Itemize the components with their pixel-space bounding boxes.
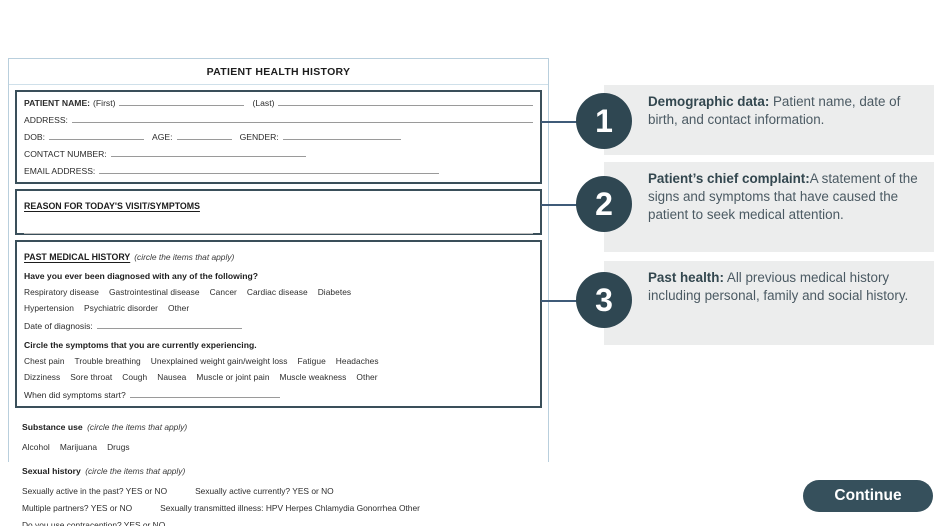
- substance-option[interactable]: Drugs: [107, 442, 130, 452]
- symptom-onset-label: When did symptoms start?: [24, 391, 126, 400]
- annotation-badge-3: 3: [576, 272, 632, 328]
- annotation-text-3: Past health: All previous medical histor…: [648, 269, 922, 305]
- dob-label: DOB:: [24, 133, 45, 142]
- condition-option[interactable]: Psychiatric disorder: [84, 303, 158, 313]
- substance-use-note: (circle the items that apply): [87, 422, 187, 432]
- symptom-option[interactable]: Headaches: [336, 356, 379, 366]
- annotation-term-2: Patient’s chief complaint:: [648, 171, 810, 186]
- email-input[interactable]: [99, 165, 439, 174]
- condition-option[interactable]: Gastrointestinal disease: [109, 287, 200, 297]
- last-name-input[interactable]: [278, 97, 533, 106]
- annotation-badge-2: 2: [576, 176, 632, 232]
- conditions-row-2: HypertensionPsychiatric disorderOther: [24, 303, 533, 313]
- patient-name-row: PATIENT NAME: (First) (Last): [24, 97, 533, 108]
- substance-options: AlcoholMarijuanaDrugs: [22, 442, 535, 452]
- contraception-row: Do you use contraception? YES or NO: [22, 520, 535, 526]
- past-medical-heading: PAST MEDICAL HISTORY: [24, 252, 130, 262]
- sexual-history-section: Sexual history (circle the items that ap…: [15, 461, 542, 526]
- symptom-option[interactable]: Muscle weakness: [280, 372, 347, 382]
- annotation-panel-1: Demographic data: Patient name, date of …: [604, 85, 934, 155]
- sexual-history-heading: Sexual history: [22, 466, 81, 476]
- patient-health-history-form: PATIENT HEALTH HISTORY PATIENT NAME: (Fi…: [8, 58, 549, 462]
- address-input[interactable]: [72, 114, 533, 123]
- reason-input[interactable]: [24, 233, 533, 234]
- annotation-panel-3: Past health: All previous medical histor…: [604, 261, 934, 345]
- annotation-badge-1: 1: [576, 93, 632, 149]
- contact-number-row: CONTACT NUMBER:: [24, 148, 533, 159]
- symptom-option[interactable]: Other: [356, 372, 377, 382]
- substance-use-heading: Substance use: [22, 422, 83, 432]
- contraception-question[interactable]: Do you use contraception? YES or NO: [22, 520, 165, 526]
- annotation-text-1: Demographic data: Patient name, date of …: [648, 93, 922, 129]
- symptom-option[interactable]: Nausea: [157, 372, 186, 382]
- gender-label: GENDER:: [240, 133, 279, 142]
- age-label: AGE:: [152, 133, 173, 142]
- sexual-activity-row: Sexually active in the past? YES or NOSe…: [22, 486, 535, 496]
- sexual-history-heading-row: Sexual history (circle the items that ap…: [22, 461, 535, 479]
- past-medical-history-section: PAST MEDICAL HISTORY(circle the items th…: [15, 240, 542, 408]
- annotation-text-2: Patient’s chief complaint:A statement of…: [648, 170, 922, 224]
- condition-option[interactable]: Cancer: [210, 287, 237, 297]
- date-of-diagnosis-row: Date of diagnosis:: [24, 320, 533, 331]
- symptoms-question: Circle the symptoms that you are current…: [24, 340, 533, 350]
- symptoms-row-2: DizzinessSore throatCoughNauseaMuscle or…: [24, 372, 533, 382]
- reason-for-visit-section: REASON FOR TODAY'S VISIT/SYMPTOMS: [15, 189, 542, 235]
- date-of-diagnosis-input[interactable]: [97, 320, 242, 329]
- continue-button[interactable]: Continue: [803, 480, 933, 512]
- sexually-active-current-question[interactable]: Sexually active currently? YES or NO: [195, 486, 334, 496]
- symptom-option[interactable]: Dizziness: [24, 372, 60, 382]
- condition-option[interactable]: Hypertension: [24, 303, 74, 313]
- condition-option[interactable]: Diabetes: [318, 287, 351, 297]
- first-name-input[interactable]: [119, 97, 244, 106]
- last-name-label: (Last): [252, 99, 274, 108]
- conditions-row-1: Respiratory diseaseGastrointestinal dise…: [24, 287, 533, 297]
- symptom-option[interactable]: Trouble breathing: [75, 356, 141, 366]
- symptoms-row-1: Chest painTrouble breathingUnexplained w…: [24, 356, 533, 366]
- annotation-term-3: Past health:: [648, 270, 724, 285]
- substance-option[interactable]: Alcohol: [22, 442, 50, 452]
- symptom-option[interactable]: Unexplained weight gain/weight loss: [151, 356, 288, 366]
- multiple-partners-question[interactable]: Multiple partners? YES or NO: [22, 503, 132, 513]
- demographics-section: PATIENT NAME: (First) (Last) ADDRESS: DO…: [15, 90, 542, 184]
- partners-sti-row: Multiple partners? YES or NOSexually tra…: [22, 503, 535, 513]
- contact-number-label: CONTACT NUMBER:: [24, 150, 107, 159]
- annotation-panel-2: Patient’s chief complaint:A statement of…: [604, 162, 934, 252]
- age-input[interactable]: [177, 131, 232, 140]
- symptom-onset-row: When did symptoms start?: [24, 389, 533, 400]
- condition-option[interactable]: Cardiac disease: [247, 287, 308, 297]
- address-label: ADDRESS:: [24, 116, 68, 125]
- substance-use-heading-row: Substance use (circle the items that app…: [22, 417, 535, 435]
- symptom-option[interactable]: Sore throat: [70, 372, 112, 382]
- symptom-option[interactable]: Fatigue: [298, 356, 326, 366]
- substance-option[interactable]: Marijuana: [60, 442, 97, 452]
- symptom-option[interactable]: Cough: [122, 372, 147, 382]
- annotation-term-1: Demographic data:: [648, 94, 769, 109]
- contact-number-input[interactable]: [111, 148, 306, 157]
- past-medical-heading-row: PAST MEDICAL HISTORY(circle the items th…: [24, 247, 533, 265]
- gender-input[interactable]: [283, 131, 401, 140]
- dob-age-gender-row: DOB: AGE: GENDER:: [24, 131, 533, 142]
- sexual-history-note: (circle the items that apply): [85, 466, 185, 476]
- diagnosed-question: Have you ever been diagnosed with any of…: [24, 271, 533, 281]
- condition-option[interactable]: Respiratory disease: [24, 287, 99, 297]
- sti-question[interactable]: Sexually transmitted illness: HPV Herpes…: [160, 503, 420, 513]
- page-title: PATIENT HEALTH HISTORY: [9, 59, 548, 85]
- address-row: ADDRESS:: [24, 114, 533, 125]
- substance-use-section: Substance use (circle the items that app…: [15, 417, 542, 452]
- dob-input[interactable]: [49, 131, 144, 140]
- date-of-diagnosis-label: Date of diagnosis:: [24, 322, 93, 331]
- email-label: EMAIL ADDRESS:: [24, 167, 95, 176]
- email-row: EMAIL ADDRESS:: [24, 165, 533, 176]
- symptom-option[interactable]: Chest pain: [24, 356, 65, 366]
- screen-root: PATIENT HEALTH HISTORY PATIENT NAME: (Fi…: [0, 0, 940, 526]
- sexually-active-past-question[interactable]: Sexually active in the past? YES or NO: [22, 486, 167, 496]
- symptom-option[interactable]: Muscle or joint pain: [196, 372, 269, 382]
- first-name-label: (First): [93, 99, 115, 108]
- patient-name-label: PATIENT NAME:: [24, 99, 90, 108]
- reason-heading: REASON FOR TODAY'S VISIT/SYMPTOMS: [24, 201, 200, 211]
- symptom-onset-input[interactable]: [130, 389, 280, 398]
- past-medical-note: (circle the items that apply): [134, 252, 234, 262]
- condition-option[interactable]: Other: [168, 303, 189, 313]
